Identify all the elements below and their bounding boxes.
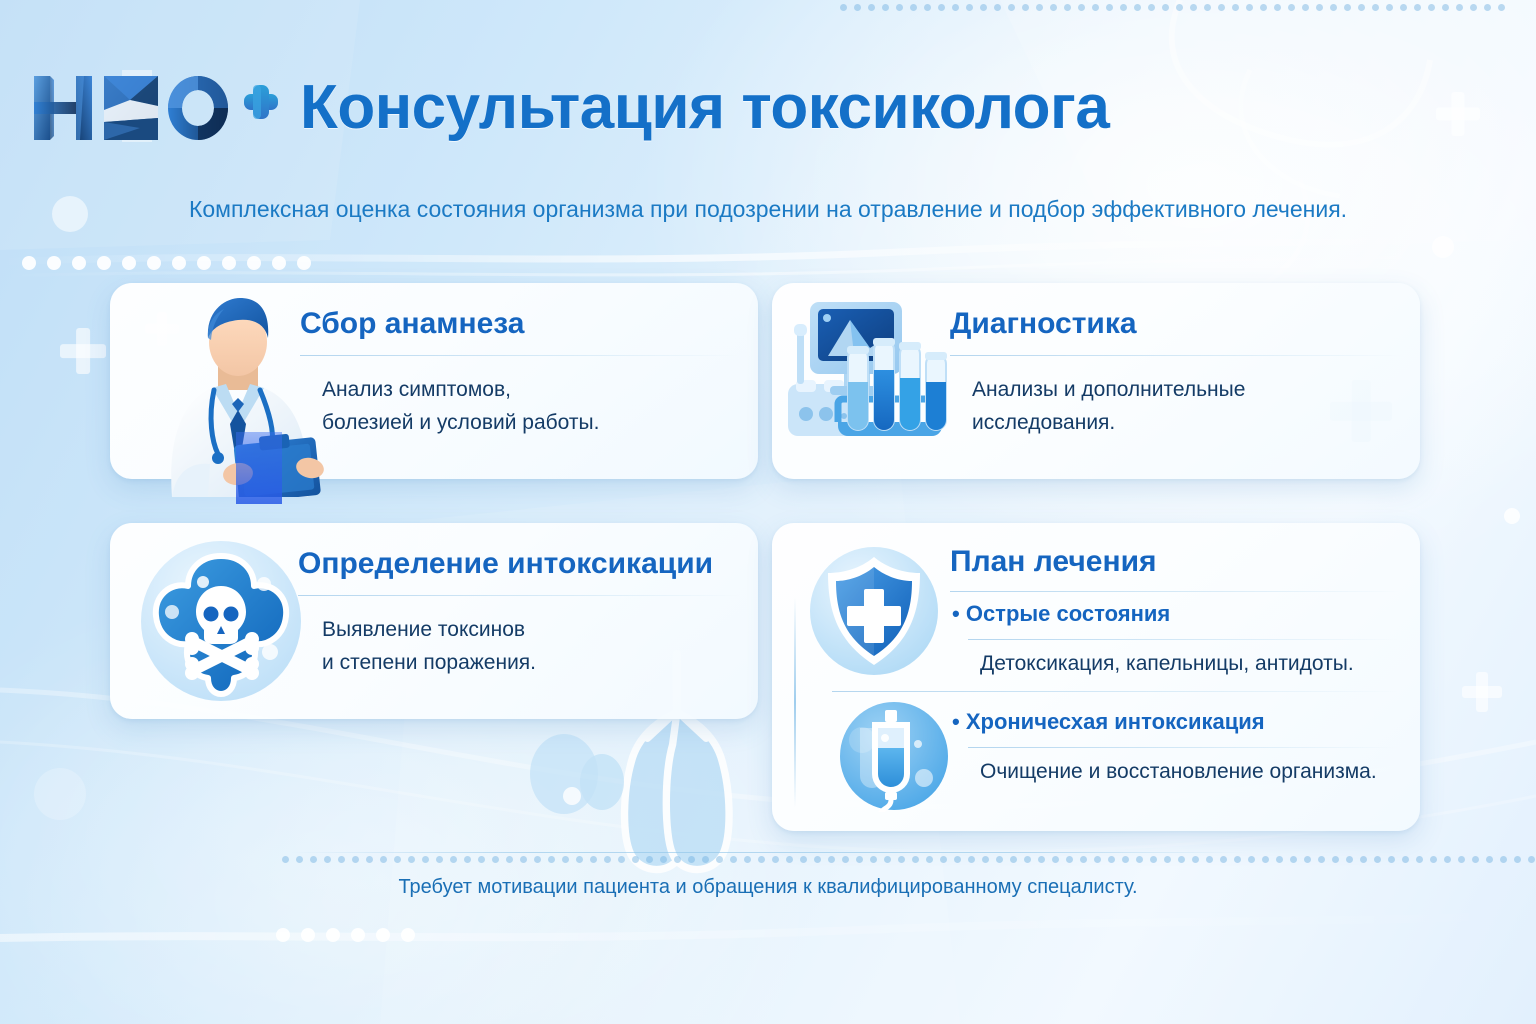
dot-row-decoration [282, 856, 1536, 863]
dot-row-decoration [22, 256, 311, 270]
accent-panel-decoration [236, 432, 282, 504]
card-body: Выявление токсинов и степени поражения. [322, 613, 742, 679]
card-body-line: болезией и условий работы. [322, 406, 742, 439]
card-title: Сбор анамнеза [300, 307, 524, 341]
brand-logo [30, 66, 280, 146]
card-body-line: Анализ симптомов, [322, 373, 742, 406]
plan-item-label: • Острые состояния [952, 601, 1170, 627]
card-body-line: исследования. [972, 406, 1412, 439]
footer-note: Требует мотивации пациента и обращения к… [0, 876, 1536, 899]
cross-decoration-icon [1462, 672, 1502, 712]
header: Консультация токсиколога [0, 0, 1536, 190]
dot-row-decoration [276, 928, 415, 942]
cross-decoration-icon [60, 328, 106, 374]
bullet-icon: • [952, 601, 960, 626]
card-divider [950, 355, 1402, 356]
shield-cross-icon [808, 545, 940, 677]
footer-divider [290, 852, 1246, 853]
page-subtitle: Комплексная оценка состояния организма п… [0, 196, 1536, 223]
card-divider [832, 691, 1398, 692]
skull-crossbones-icon [138, 538, 304, 704]
card-body-line: Анализы и дополнительные [972, 373, 1412, 406]
plan-item-text: Детоксикация, капельницы, антидоты. [980, 647, 1400, 680]
card-body-line: и степени поражения. [322, 646, 742, 679]
lab-equipment-icon [786, 296, 966, 484]
circle-decoration [34, 768, 86, 820]
page-title: Консультация токсиколога [300, 72, 1109, 143]
card-title: Диагностика [950, 307, 1137, 341]
bullet-icon: • [952, 709, 960, 734]
card-title: Определение интоксикации [298, 547, 713, 581]
plan-item-label: • Хроничесхая интоксикация [952, 709, 1265, 735]
card-divider [968, 639, 1398, 640]
card-body: Анализы и дополнительные исследования. [972, 373, 1412, 439]
iv-drip-icon [838, 700, 950, 812]
card-divider [968, 747, 1398, 748]
circle-decoration [1432, 236, 1454, 258]
card-divider [950, 591, 1400, 592]
card-title: План лечения [950, 545, 1157, 579]
plan-item-title: Хроничесхая интоксикация [966, 709, 1265, 734]
plan-item-text: Очищение и восстановление организма. [980, 755, 1410, 788]
card-accent-line [794, 597, 796, 807]
card-body: Анализ симптомов, болезией и условий раб… [322, 373, 742, 439]
card-body-line: Выявление токсинов [322, 613, 742, 646]
card-divider [298, 595, 740, 596]
infographic-canvas: Консультация токсиколога Комплексная оце… [0, 0, 1536, 1024]
circle-decoration [1504, 508, 1520, 524]
plan-item-title: Острые состояния [966, 601, 1170, 626]
card-divider [300, 355, 740, 356]
